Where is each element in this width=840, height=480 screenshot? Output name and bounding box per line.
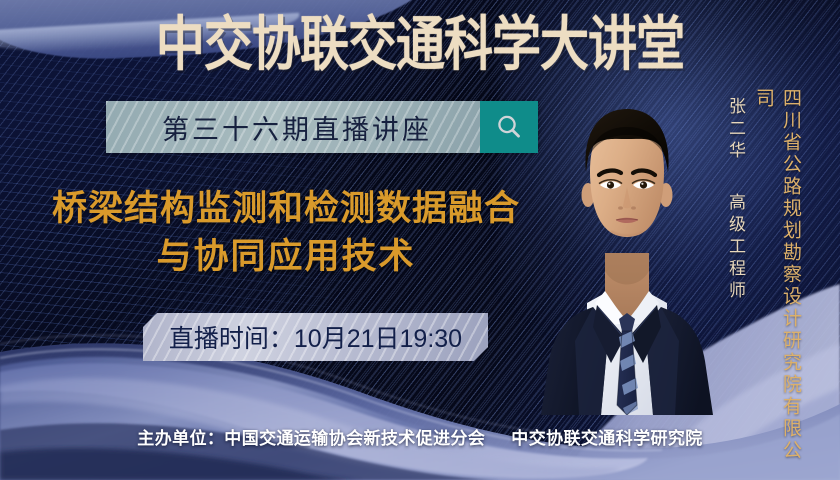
footer-organizer-2: 中交协联交通科学研究院 — [511, 429, 702, 448]
session-label-container: 第三十六期直播讲座 — [106, 101, 480, 153]
search-icon — [494, 112, 524, 142]
session-bar: 第三十六期直播讲座 — [106, 101, 538, 153]
live-lecture-poster: 中交协联交通科学大讲堂 第三十六期直播讲座 桥梁结构监测和检测数据融合 与协同应… — [0, 0, 840, 480]
lecture-topic: 桥梁结构监测和检测数据融合 与协同应用技术 — [26, 185, 546, 282]
search-button[interactable] — [480, 101, 538, 153]
live-time-label: 直播时间：10月21日19:30 — [169, 319, 462, 355]
session-label: 第三十六期直播讲座 — [154, 108, 432, 147]
speaker-organization: 四川省公路规划勘察设计研究院有限公司 — [750, 88, 804, 480]
footer-organizer-1: 中国交通运输协会新技术促进分会 — [224, 429, 485, 448]
speaker-name: 张二华 — [723, 97, 748, 163]
speaker-role: 高级工程师 — [723, 193, 748, 303]
footer-prefix: 主办单位： — [137, 429, 224, 448]
footer-organizers: 主办单位：中国交通运输协会新技术促进分会中交协联交通科学研究院 — [0, 424, 840, 449]
lecture-topic-line1: 桥梁结构监测和检测数据融合 — [26, 185, 546, 233]
lecture-topic-line2: 与协同应用技术 — [26, 233, 546, 281]
speaker-portrait — [531, 75, 723, 415]
live-time-banner: 直播时间：10月21日19:30 — [143, 313, 488, 361]
poster-title: 中交协联交通科学大讲堂 — [8, 14, 831, 77]
